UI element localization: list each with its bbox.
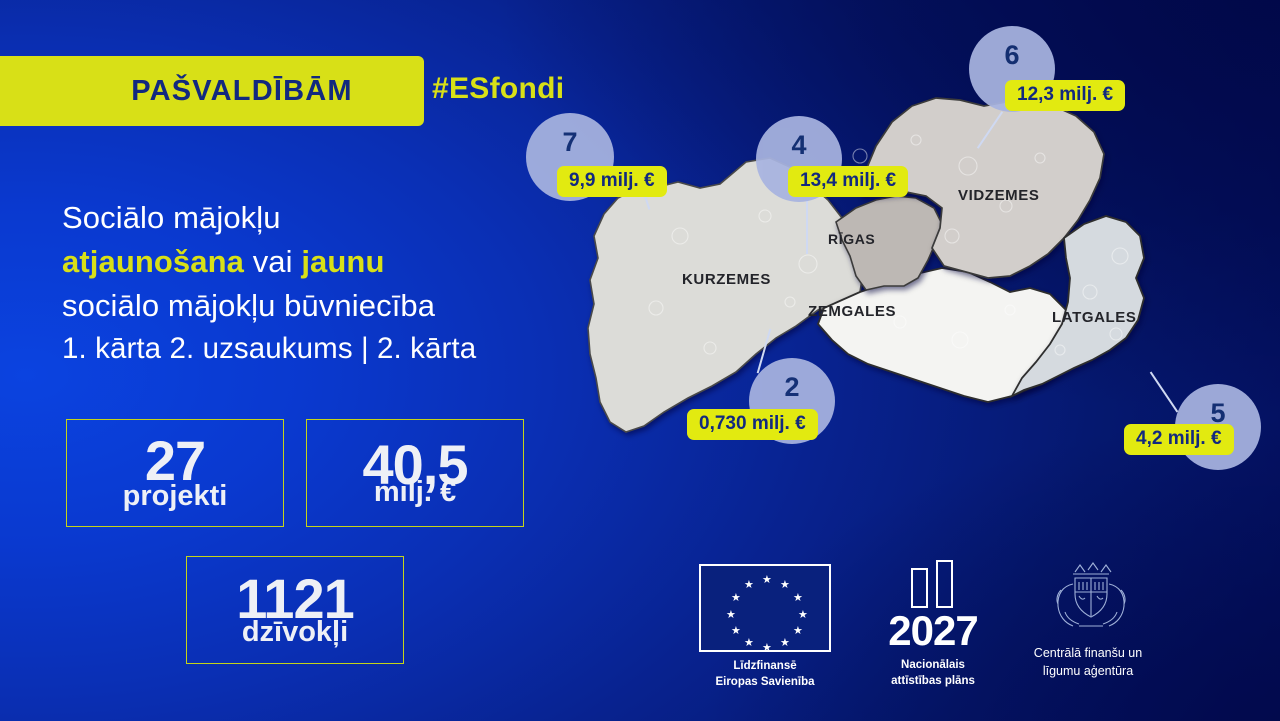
np-bar-right — [936, 560, 953, 608]
marker-amount-zemgale: 0,730 milj. € — [687, 409, 818, 440]
cfla-logo: Centrālā finanšu un līgumu aģentūra — [1008, 560, 1168, 680]
map-label-rigas: RĪGAS — [828, 231, 875, 247]
leader-line-riga — [806, 196, 808, 254]
eu-emblem-logo: ★ ★ ★ ★ ★ ★ ★ ★ ★ ★ ★ ★ Līdzfinansē Eiro… — [680, 564, 850, 690]
national-plan-logo: 2027 Nacionālais attīstības plāns — [868, 560, 998, 689]
latvia-coat-of-arms-icon — [1049, 560, 1127, 632]
marker-count-zemgale: 2 — [784, 358, 799, 403]
marker-amount-kurzeme: 9,9 milj. € — [557, 166, 667, 197]
marker-amount-vidzeme: 12,3 milj. € — [1005, 80, 1125, 111]
stat-label-amount: milj. € — [374, 478, 456, 507]
marker-amount-riga: 13,4 milj. € — [788, 166, 908, 197]
cfla-logo-caption-line-1: Centrālā finanšu un — [1008, 645, 1168, 663]
headline-line-2: atjaunošana vai jaunu — [62, 240, 582, 284]
headline-line-3: sociālo mājokļu būvniecība — [62, 284, 582, 328]
marker-count-riga: 4 — [791, 116, 806, 161]
eu-flag-icon: ★ ★ ★ ★ ★ ★ ★ ★ ★ ★ ★ ★ — [699, 564, 831, 652]
eu-logo-caption-line-2: Eiropas Savienība — [680, 675, 850, 691]
marker-count-kurzeme: 7 — [562, 113, 577, 158]
marker-amount-latgale: 4,2 milj. € — [1124, 424, 1234, 455]
map-label-zemgales: ZEMGALES — [808, 303, 896, 320]
marker-count-vidzeme: 6 — [1004, 26, 1019, 71]
np-logo-caption-line-1: Nacionālais — [868, 658, 998, 674]
np-bar-left — [911, 568, 928, 608]
np-bars-icon — [903, 560, 963, 608]
np-logo-caption: Nacionālais attīstības plāns — [868, 658, 998, 689]
stat-box-projects: 27 projekti — [66, 419, 284, 527]
map-label-kurzemes: KURZEMES — [682, 271, 771, 288]
np-logo-caption-line-2: attīstības plāns — [868, 674, 998, 690]
stat-label-projects: projekti — [123, 482, 228, 511]
stat-box-amount: 40,5 milj. € — [306, 419, 524, 527]
logo-strip: ★ ★ ★ ★ ★ ★ ★ ★ ★ ★ ★ ★ Līdzfinansē Eiro… — [672, 556, 1172, 696]
headline-line-4: 1. kārta 2. uzsaukums | 2. kārta — [62, 328, 582, 370]
cfla-logo-caption-line-2: līgumu aģentūra — [1008, 663, 1168, 681]
np-year: 2027 — [868, 610, 998, 652]
eu-logo-caption: Līdzfinansē Eiropas Savienība — [680, 659, 850, 690]
headline-line-1: Sociālo mājokļu — [62, 196, 582, 240]
cfla-logo-caption: Centrālā finanšu un līgumu aģentūra — [1008, 645, 1168, 680]
infographic-canvas: PAŠVALDĪBĀM #ESfondi Sociālo mājokļu atj… — [0, 0, 1280, 721]
map-label-vidzemes: VIDZEMES — [958, 187, 1039, 204]
headline-highlight-2: jaunu — [301, 244, 384, 279]
audience-badge-label: PAŠVALDĪBĀM — [71, 75, 353, 108]
eu-logo-caption-line-1: Līdzfinansē — [680, 659, 850, 675]
marker-count-latgale: 5 — [1210, 384, 1225, 429]
stat-label-apartments: dzīvokļi — [242, 618, 348, 647]
audience-badge: PAŠVALDĪBĀM — [0, 56, 424, 126]
stat-value-projects: 27 — [145, 435, 205, 487]
headline-highlight-1: atjaunošana — [62, 244, 244, 279]
map-label-latgales: LATGALES — [1052, 309, 1137, 326]
hashtag-label: #ESfondi — [432, 72, 564, 106]
headline-conjunction: vai — [244, 244, 301, 279]
stat-box-apartments: 1121 dzīvokļi — [186, 556, 404, 664]
headline: Sociālo mājokļu atjaunošana vai jaunu so… — [62, 196, 582, 370]
